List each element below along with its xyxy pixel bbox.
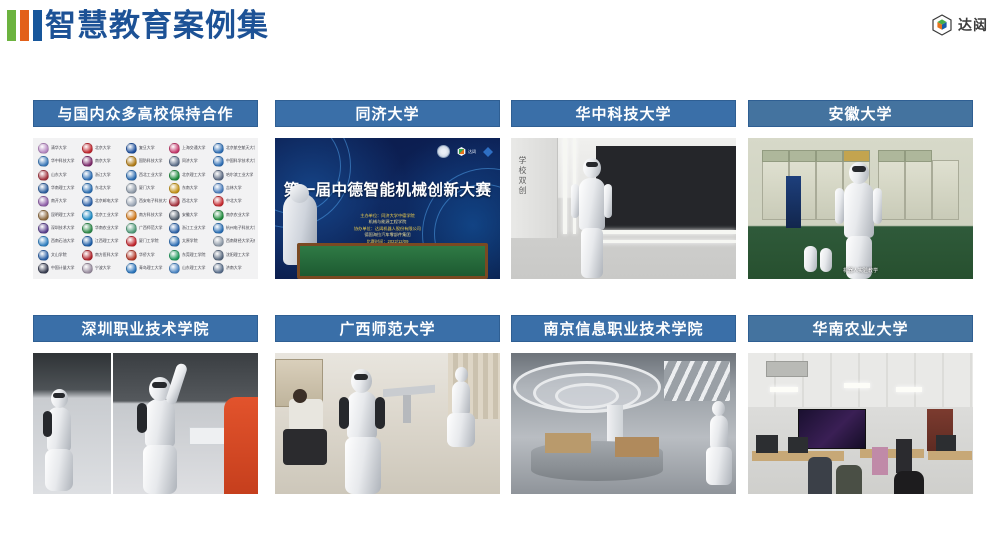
university-logo-item: 厦门工学院 bbox=[124, 235, 168, 248]
wall-display-screen bbox=[798, 409, 866, 449]
university-logo-item: 国防科技大学 bbox=[124, 155, 168, 168]
photo-caption: 机器人实验教学 bbox=[748, 267, 973, 274]
university-logo-item: 哈尔滨工业大学 bbox=[211, 169, 255, 182]
robot-visor-front bbox=[354, 374, 368, 380]
university-seal-icon bbox=[126, 183, 137, 194]
university-name: 东莞理工学院 bbox=[182, 252, 205, 258]
lab-cabinet-1 bbox=[762, 160, 789, 220]
university-seal-icon bbox=[169, 250, 180, 261]
university-name: 山东大学 bbox=[51, 172, 67, 178]
university-seal-icon bbox=[82, 170, 93, 181]
robot-torso bbox=[579, 178, 605, 230]
monitor-2 bbox=[788, 437, 808, 453]
university-logo-item: 西南石油大学 bbox=[36, 235, 80, 248]
university-logo-item: 浙江大学 bbox=[80, 169, 124, 182]
university-name: 中国科学技术大学 bbox=[226, 159, 255, 165]
light-strip-floor-2 bbox=[595, 240, 736, 243]
light-strip-floor-1 bbox=[585, 230, 736, 234]
university-seal-icon bbox=[213, 143, 224, 154]
university-name: 华南农业大学 bbox=[95, 226, 118, 232]
university-seal-icon bbox=[38, 170, 49, 181]
seated-person bbox=[289, 399, 323, 431]
university-name: 中北大学 bbox=[226, 199, 242, 205]
monitor-1 bbox=[756, 435, 778, 453]
card-media-hallway-robot-photo: 学校双创 bbox=[511, 138, 736, 279]
university-logo-item: 北京邮电大学 bbox=[80, 195, 124, 208]
university-logo-item: 吉林大学 bbox=[211, 182, 255, 195]
cabinet-top-box-1 bbox=[762, 150, 789, 162]
card-title: 华南农业大学 bbox=[748, 315, 973, 342]
robot-arm-left bbox=[571, 184, 579, 218]
lab-cabinet-6 bbox=[905, 160, 932, 220]
wall-display bbox=[596, 146, 736, 232]
university-seal-icon bbox=[126, 263, 137, 274]
university-seal-icon bbox=[126, 156, 137, 167]
university-name: 沈阳理工大学 bbox=[226, 252, 249, 258]
robot-arm-right bbox=[604, 184, 612, 218]
university-logo-item: 江西理工大学 bbox=[80, 235, 124, 248]
cabinet-top-box-4 bbox=[843, 150, 870, 162]
university-seal-icon bbox=[169, 210, 180, 221]
university-name: 南方科技大学 bbox=[139, 212, 162, 218]
student-seated-3 bbox=[894, 471, 924, 494]
university-logo-item: 厦门大学 bbox=[124, 182, 168, 195]
robot-head-left bbox=[51, 389, 68, 408]
university-name: 北京航空航天大学 bbox=[226, 146, 255, 152]
classroom-robots-photo bbox=[275, 353, 500, 494]
card-media-computer-classroom-photo bbox=[748, 353, 973, 494]
university-logo-item: 南方科技大学 bbox=[124, 209, 168, 222]
university-seal-icon bbox=[38, 223, 49, 234]
robot-head-front bbox=[351, 369, 372, 393]
case-card-guangxi-normal-university[interactable]: 广西师范大学 bbox=[275, 315, 500, 494]
university-logo-item: 太原学院 bbox=[167, 235, 211, 248]
university-logo-item: 西南财经大学天府学院 bbox=[211, 235, 255, 248]
university-seal-icon bbox=[38, 196, 49, 207]
university-seal-icon bbox=[82, 250, 93, 261]
office-chair bbox=[283, 429, 327, 465]
university-logo-item: 西安电子科技大学 bbox=[124, 195, 168, 208]
university-seal-icon bbox=[82, 196, 93, 207]
university-name: 浙江工业大学 bbox=[182, 226, 205, 232]
university-logo-item: 浙江工业大学 bbox=[167, 222, 211, 235]
banner-pool-table bbox=[297, 243, 488, 279]
university-name: 西北大学 bbox=[182, 199, 198, 205]
university-seal-icon bbox=[213, 210, 224, 221]
lab-roll-up-banner bbox=[786, 176, 801, 228]
accent-bar-orange bbox=[20, 10, 29, 41]
hella-logo-icon bbox=[483, 147, 493, 157]
university-name: 华中科技大学 bbox=[51, 159, 74, 165]
case-card-tongji-university[interactable]: 同济大学 达闼 第一届中德智能机械创新大赛 bbox=[275, 100, 500, 279]
cabinet-top-box-6 bbox=[905, 150, 932, 162]
robot-head-back bbox=[455, 367, 468, 382]
university-name: 南开大学 bbox=[51, 199, 67, 205]
university-logo-item: 沈阳理工大学 bbox=[211, 248, 255, 261]
case-card-anhui-university[interactable]: 安徽大学 bbox=[748, 100, 973, 279]
card-title: 广西师范大学 bbox=[275, 315, 500, 342]
university-seal-icon bbox=[169, 223, 180, 234]
robot-torso-front bbox=[347, 391, 377, 439]
university-name: 东北大学 bbox=[95, 186, 111, 192]
robot-head bbox=[712, 401, 725, 416]
person-in-red-shirt bbox=[224, 397, 258, 494]
event-banner: 达闼 第一届中德智能机械创新大赛 主办单位：同济大学中德学院机械与能源工程学院协… bbox=[275, 138, 500, 279]
podium-stem bbox=[403, 395, 411, 423]
lab-cabinet-5 bbox=[878, 160, 905, 220]
university-name: 南方医科大学 bbox=[95, 252, 118, 258]
robot-torso bbox=[710, 415, 728, 449]
university-seal-icon bbox=[213, 196, 224, 207]
accent-bar-green bbox=[7, 10, 16, 41]
university-logo-item: 复旦大学 bbox=[124, 142, 168, 155]
university-logo-item: 南京大学 bbox=[80, 155, 124, 168]
university-logo-item: 华南农业大学 bbox=[80, 222, 124, 235]
university-seal-icon bbox=[169, 143, 180, 154]
case-card-huazhong-university[interactable]: 华中科技大学 学校双创 bbox=[511, 100, 736, 279]
cabinet-top-box-3 bbox=[816, 150, 843, 162]
tongji-seal-icon bbox=[437, 145, 450, 158]
cloudminds-logo-icon: 达闼 bbox=[457, 147, 476, 156]
light-strip-1 bbox=[563, 138, 567, 234]
university-logo-item: 昆明理工大学 bbox=[36, 209, 80, 222]
university-seal-icon bbox=[38, 143, 49, 154]
university-seal-icon bbox=[169, 263, 180, 274]
robot-arm-right bbox=[873, 188, 882, 224]
university-seal-icon bbox=[82, 223, 93, 234]
robot-base-left bbox=[45, 449, 73, 491]
university-logo-item: 南方医科大学 bbox=[80, 248, 124, 261]
university-name: 南京大学 bbox=[95, 159, 111, 165]
university-name: 广西师范大学 bbox=[139, 226, 162, 232]
university-name: 上海交通大学 bbox=[182, 146, 205, 152]
university-logo-item: 东莞理工学院 bbox=[167, 248, 211, 261]
robot-base-right bbox=[143, 445, 177, 494]
atrium-robot-photo bbox=[511, 353, 736, 494]
hallway-robot-photo: 学校双创 bbox=[511, 138, 736, 279]
page-header: 智慧教育案例集 达闼 bbox=[0, 0, 1000, 62]
university-name: 文山学院 bbox=[51, 252, 67, 258]
cloudminds-hexagon-cube-logo-icon bbox=[931, 14, 953, 36]
case-card-partner-universities[interactable]: 与国内众多高校保持合作 清华大学北京大学复旦大学上海交通大学北京航空航天大学华中… bbox=[33, 100, 258, 279]
case-card-shenzhen-polytechnic[interactable]: 深圳职业技术学院 bbox=[33, 315, 258, 494]
card-media-lab-cabinets-robot-photo: 机器人实验教学 bbox=[748, 138, 973, 279]
university-seal-icon bbox=[169, 196, 180, 207]
university-logo-item: 深圳技术大学 bbox=[36, 222, 80, 235]
person-in-pink bbox=[872, 447, 888, 475]
university-seal-icon bbox=[213, 236, 224, 247]
cabinet-top-box-2 bbox=[789, 150, 816, 162]
university-name: 吉林大学 bbox=[226, 186, 242, 192]
robot-torso-right bbox=[145, 399, 175, 447]
university-seal-icon bbox=[126, 236, 137, 247]
university-name: 太原学院 bbox=[182, 239, 198, 245]
university-seal-icon bbox=[126, 170, 137, 181]
robot-torso-back bbox=[452, 381, 470, 415]
university-seal-icon bbox=[82, 183, 93, 194]
robot-visor-left bbox=[53, 393, 65, 398]
robot-base-back bbox=[447, 413, 475, 447]
university-name: 杭州电子科技大学 bbox=[226, 226, 255, 232]
hallway-wall-text: 学校双创 bbox=[517, 156, 528, 196]
university-name: 青岛理工大学 bbox=[139, 265, 162, 271]
university-logo-item: 北京理工大学 bbox=[167, 169, 211, 182]
university-seal-icon bbox=[213, 156, 224, 167]
wood-desk-left bbox=[545, 433, 591, 453]
university-seal-icon bbox=[213, 183, 224, 194]
university-name: 东南大学 bbox=[182, 186, 198, 192]
card-title: 南京信息职业技术学院 bbox=[511, 315, 736, 342]
split-robots-photo bbox=[33, 353, 258, 494]
university-logo-item: 北京航空航天大学 bbox=[211, 142, 255, 155]
university-seal-icon bbox=[213, 250, 224, 261]
university-seal-icon bbox=[82, 156, 93, 167]
university-logo-item: 山东理工大学 bbox=[167, 262, 211, 275]
university-name: 济南大学 bbox=[226, 265, 242, 271]
university-logo-item: 同济大学 bbox=[167, 155, 211, 168]
university-logo-item: 南开大学 bbox=[36, 195, 80, 208]
university-logo-item: 杭州电子科技大学 bbox=[211, 222, 255, 235]
university-seal-icon bbox=[169, 170, 180, 181]
robot-arm-left-dark bbox=[43, 411, 52, 437]
university-name: 清华大学 bbox=[51, 146, 67, 152]
university-name: 厦门大学 bbox=[139, 186, 155, 192]
university-seal-icon bbox=[126, 196, 137, 207]
robot-base bbox=[581, 228, 603, 278]
university-logo-item: 南京农业大学 bbox=[211, 209, 255, 222]
university-name: 哈尔滨工业大学 bbox=[226, 172, 253, 178]
university-seal-icon bbox=[38, 210, 49, 221]
university-name: 深圳技术大学 bbox=[51, 226, 74, 232]
university-name: 西安电子科技大学 bbox=[139, 199, 168, 205]
university-seal-icon bbox=[38, 156, 49, 167]
university-logo-item: 东南大学 bbox=[167, 182, 211, 195]
ceiling-vent bbox=[766, 361, 808, 377]
university-logo-item: 广西师范大学 bbox=[124, 222, 168, 235]
card-media-atrium-robot-photo bbox=[511, 353, 736, 494]
university-logo-item: 安徽大学 bbox=[167, 209, 211, 222]
desk-row-2 bbox=[860, 449, 924, 458]
university-seal-icon bbox=[126, 250, 137, 261]
card-title: 与国内众多高校保持合作 bbox=[33, 100, 258, 127]
university-seal-icon bbox=[213, 223, 224, 234]
brand-logo: 达闼 bbox=[931, 14, 988, 36]
university-seal-icon bbox=[82, 236, 93, 247]
university-seal-icon bbox=[82, 143, 93, 154]
student-seated-2 bbox=[836, 465, 862, 494]
university-logo-wall: 清华大学北京大学复旦大学上海交通大学北京航空航天大学华中科技大学南京大学国防科技… bbox=[33, 138, 258, 279]
university-logo-item: 济南大学 bbox=[211, 262, 255, 275]
lab-cabinets-robot-photo: 机器人实验教学 bbox=[748, 138, 973, 279]
university-name: 北京工业大学 bbox=[95, 212, 118, 218]
robot-face-visor bbox=[586, 162, 598, 167]
card-title: 同济大学 bbox=[275, 100, 500, 127]
card-title: 深圳职业技术学院 bbox=[33, 315, 258, 342]
university-name: 北京理工大学 bbox=[182, 172, 205, 178]
university-logo-item: 宁波大学 bbox=[80, 262, 124, 275]
university-seal-icon bbox=[126, 143, 137, 154]
university-logo-item: 青岛理工大学 bbox=[124, 262, 168, 275]
university-logo-item: 东北大学 bbox=[80, 182, 124, 195]
university-logo-item: 北京大学 bbox=[80, 142, 124, 155]
university-name: 南京农业大学 bbox=[226, 212, 249, 218]
university-name: 华南理工大学 bbox=[51, 186, 74, 192]
university-seal-icon bbox=[82, 210, 93, 221]
university-seal-icon bbox=[38, 236, 49, 247]
university-logo-item: 中国计量大学 bbox=[36, 262, 80, 275]
person-standing bbox=[896, 439, 912, 473]
banner-brand-name: 达闼 bbox=[468, 149, 476, 155]
university-logo-item: 上海交通大学 bbox=[167, 142, 211, 155]
card-media-split-robots-photo bbox=[33, 353, 258, 494]
ceiling-light-2 bbox=[844, 383, 870, 388]
university-name: 北京邮电大学 bbox=[95, 199, 118, 205]
ceiling-light-1 bbox=[770, 387, 798, 392]
university-seal-icon bbox=[38, 263, 49, 274]
header-accent-bars bbox=[7, 10, 42, 41]
card-media-event-banner: 达闼 第一届中德智能机械创新大赛 主办单位：同济大学中德学院机械与能源工程学院协… bbox=[275, 138, 500, 279]
ceiling-light-3 bbox=[896, 387, 922, 392]
university-logo-item: 文山学院 bbox=[36, 248, 80, 261]
university-name: 厦门工学院 bbox=[139, 239, 158, 245]
university-name: 西北工业大学 bbox=[139, 172, 162, 178]
university-logo-item: 西北大学 bbox=[167, 195, 211, 208]
equipment-box bbox=[189, 427, 225, 445]
university-seal-icon bbox=[213, 170, 224, 181]
banner-logo-row: 达闼 bbox=[437, 145, 493, 158]
robot-torso bbox=[844, 182, 874, 238]
university-name: 西南财经大学天府学院 bbox=[226, 239, 255, 245]
robot-base-front bbox=[345, 437, 381, 494]
university-logo-item: 中国科学技术大学 bbox=[211, 155, 255, 168]
university-logo-item: 华侨大学 bbox=[124, 248, 168, 261]
page-title: 智慧教育案例集 bbox=[45, 5, 269, 47]
university-seal-icon bbox=[38, 250, 49, 261]
university-name: 华侨大学 bbox=[139, 252, 155, 258]
robot-arm-left bbox=[835, 188, 844, 224]
university-logo-item: 华南理工大学 bbox=[36, 182, 80, 195]
university-logo-item: 北京工业大学 bbox=[80, 209, 124, 222]
card-title: 安徽大学 bbox=[748, 100, 973, 127]
ceiling-light-panels bbox=[664, 361, 730, 401]
robot-arm-front-left bbox=[339, 397, 349, 429]
computer-classroom-photo bbox=[748, 353, 973, 494]
card-title: 华中科技大学 bbox=[511, 100, 736, 127]
lab-cabinet-7 bbox=[932, 160, 959, 220]
university-logo-item: 清华大学 bbox=[36, 142, 80, 155]
photo-panel-left bbox=[33, 353, 113, 494]
university-seal-icon bbox=[126, 210, 137, 221]
robot-visor-right bbox=[152, 382, 167, 388]
desk-row-3 bbox=[928, 451, 972, 460]
person-head bbox=[293, 389, 307, 403]
accent-bar-blue bbox=[33, 10, 42, 41]
robot-arm-front-right bbox=[375, 397, 385, 429]
wood-desk-right bbox=[615, 437, 659, 457]
university-seal-icon bbox=[169, 156, 180, 167]
robot-base bbox=[706, 447, 732, 485]
university-name: 西南石油大学 bbox=[51, 239, 74, 245]
university-name: 中国计量大学 bbox=[51, 265, 74, 271]
university-logo-item: 西北工业大学 bbox=[124, 169, 168, 182]
university-name: 江西理工大学 bbox=[95, 239, 118, 245]
university-seal-icon bbox=[169, 236, 180, 247]
university-logo-item: 华中科技大学 bbox=[36, 155, 80, 168]
robot-arm-right-dark bbox=[137, 403, 147, 433]
university-logo-item: 中北大学 bbox=[211, 195, 255, 208]
university-name: 北京大学 bbox=[95, 146, 111, 152]
case-card-south-china-agricultural-university[interactable]: 华南农业大学 bbox=[748, 315, 973, 494]
robot-face-visor bbox=[852, 166, 866, 172]
university-seal-icon bbox=[38, 183, 49, 194]
university-name: 复旦大学 bbox=[139, 146, 155, 152]
card-media-classroom-robots-photo bbox=[275, 353, 500, 494]
brand-name: 达闼 bbox=[958, 15, 988, 35]
card-media-university-logo-wall: 清华大学北京大学复旦大学上海交通大学北京航空航天大学华中科技大学南京大学国防科技… bbox=[33, 138, 258, 279]
university-seal-icon bbox=[169, 183, 180, 194]
university-name: 国防科技大学 bbox=[139, 159, 162, 165]
university-logo-item: 山东大学 bbox=[36, 169, 80, 182]
student-seated-1 bbox=[808, 457, 832, 494]
university-seal-icon bbox=[213, 263, 224, 274]
cabinet-top-box-5 bbox=[878, 150, 905, 162]
university-name: 浙江大学 bbox=[95, 172, 111, 178]
university-name: 山东理工大学 bbox=[182, 265, 205, 271]
university-seal-icon bbox=[82, 263, 93, 274]
university-name: 昆明理工大学 bbox=[51, 212, 74, 218]
university-name: 同济大学 bbox=[182, 159, 198, 165]
university-seal-icon bbox=[126, 223, 137, 234]
monitor-3 bbox=[936, 435, 956, 451]
university-name: 宁波大学 bbox=[95, 265, 111, 271]
case-card-nanjing-vocational-college[interactable]: 南京信息职业技术学院 bbox=[511, 315, 736, 494]
case-grid: 与国内众多高校保持合作 清华大学北京大学复旦大学上海交通大学北京航空航天大学华中… bbox=[0, 62, 1000, 538]
university-name: 安徽大学 bbox=[182, 212, 198, 218]
robot-head bbox=[583, 158, 601, 178]
